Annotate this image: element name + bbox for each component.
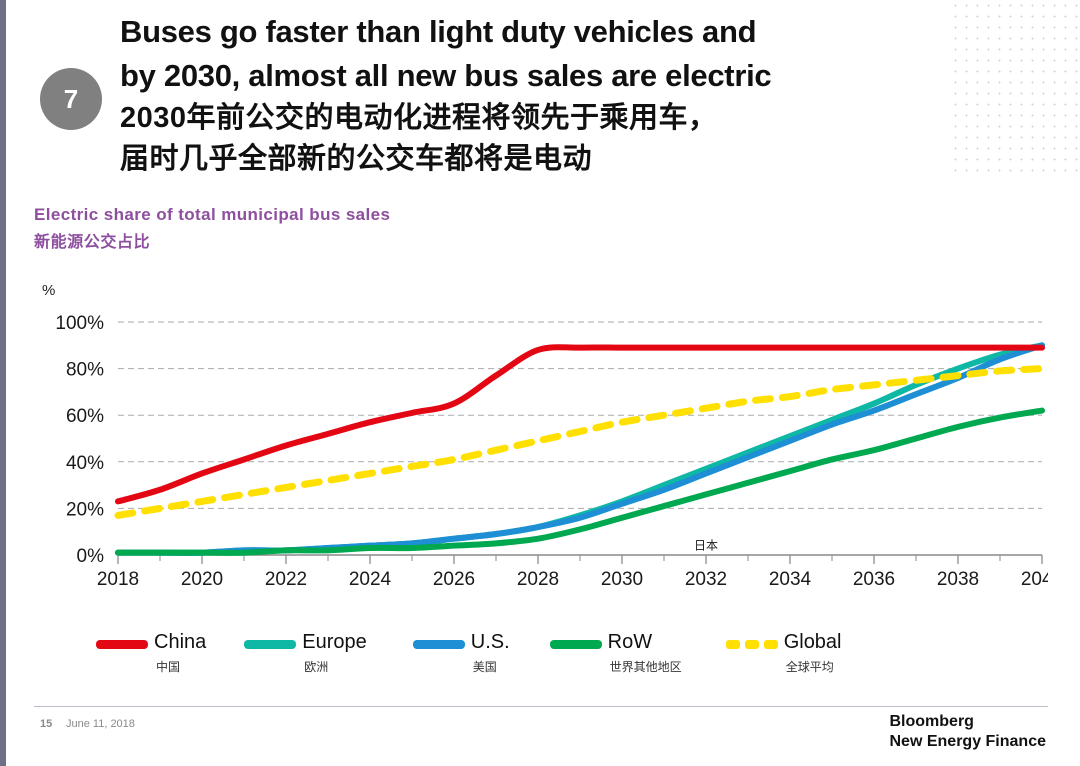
x-axis-tick-label: 2034 (769, 569, 812, 590)
x-axis-tick-label: 2026 (433, 569, 475, 590)
brand-line-1: Bloomberg (890, 712, 1047, 732)
y-axis-tick-label: 20% (66, 499, 104, 520)
legend-text: RoW世界其他地区 (608, 632, 682, 675)
series-line-china (118, 347, 1042, 501)
legend-label-zh: 中国 (156, 658, 206, 675)
line-chart: % 0%20%40%60%80%100%20182020202220242026… (34, 282, 1048, 602)
slide-number-badge: 7 (40, 68, 102, 130)
x-axis-tick-label: 2018 (97, 569, 139, 590)
title-zh-line-2: 届时几乎全部新的公交车都将是电动 (120, 139, 1010, 180)
legend-item-china[interactable]: China中国 (96, 632, 206, 675)
legend-item-global[interactable]: Global全球平均 (726, 632, 842, 675)
legend-label-en: Europe (302, 632, 367, 653)
title-en-line-2: by 2030, almost all new bus sales are el… (120, 54, 1010, 98)
left-accent-bar (0, 0, 6, 766)
legend-swatch-icon (96, 640, 148, 649)
legend-label-zh: 欧洲 (304, 658, 367, 675)
brand-line-2: New Energy Finance (890, 732, 1047, 752)
legend-label-zh: 美国 (473, 658, 510, 675)
footer-divider (34, 706, 1048, 707)
x-axis-tick-label: 2022 (265, 569, 307, 590)
x-axis-tick-label: 2024 (349, 569, 392, 590)
legend-label-en: U.S. (471, 632, 510, 653)
legend-swatch-icon (244, 640, 296, 649)
legend-label-en: China (154, 632, 206, 653)
title-en-line-1: Buses go faster than light duty vehicles… (120, 10, 1010, 54)
x-axis-tick-label: 2030 (601, 569, 643, 590)
footer-page-number: 15 (40, 718, 52, 730)
x-axis-tick-label: 2020 (181, 569, 223, 590)
footer-date: June 11, 2018 (66, 718, 135, 730)
legend-swatch-icon (726, 640, 778, 649)
legend-text: China中国 (154, 632, 206, 675)
chart-plot-area: 0%20%40%60%80%100%2018202020222024202620… (34, 282, 1048, 602)
y-axis-tick-label: 100% (55, 313, 104, 334)
x-axis-tick-label: 2028 (517, 569, 559, 590)
brand-logo: Bloomberg New Energy Finance (890, 712, 1047, 752)
legend-item-us[interactable]: U.S.美国 (413, 632, 510, 675)
chart-annotation: 日本 (694, 539, 718, 553)
slide-title: Buses go faster than light duty vehicles… (120, 10, 1010, 179)
series-line-us (118, 345, 1042, 553)
legend-item-row[interactable]: RoW世界其他地区 (550, 632, 682, 675)
chart-subtitle: Electric share of total municipal bus sa… (34, 205, 390, 252)
chart-subtitle-zh: 新能源公交占比 (34, 228, 390, 252)
legend-text: Europe欧洲 (302, 632, 367, 675)
y-axis-tick-label: 60% (66, 406, 104, 427)
x-axis-tick-label: 2032 (685, 569, 727, 590)
legend-label-zh: 世界其他地区 (610, 658, 682, 675)
legend-item-europe[interactable]: Europe欧洲 (244, 632, 367, 675)
x-axis-tick-label: 2036 (853, 569, 895, 590)
legend-text: Global全球平均 (784, 632, 842, 675)
title-zh-line-1: 2030年前公交的电动化进程将领先于乘用车， (120, 98, 1010, 139)
legend-label-en: Global (784, 632, 842, 653)
chart-subtitle-en: Electric share of total municipal bus sa… (34, 205, 390, 225)
y-axis-tick-label: 80% (66, 360, 104, 381)
legend-label-zh: 全球平均 (786, 658, 842, 675)
series-line-europe (118, 345, 1042, 553)
legend-label-en: RoW (608, 632, 682, 653)
y-axis-tick-label: 0% (77, 546, 105, 567)
y-axis-tick-label: 40% (66, 453, 104, 474)
legend-swatch-icon (413, 640, 465, 649)
legend-text: U.S.美国 (471, 632, 510, 675)
x-axis-tick-label: 2040 (1021, 569, 1048, 590)
x-axis-tick-label: 2038 (937, 569, 979, 590)
chart-legend: China中国Europe欧洲U.S.美国RoW世界其他地区Global全球平均 (96, 632, 1036, 675)
legend-swatch-icon (550, 640, 602, 649)
